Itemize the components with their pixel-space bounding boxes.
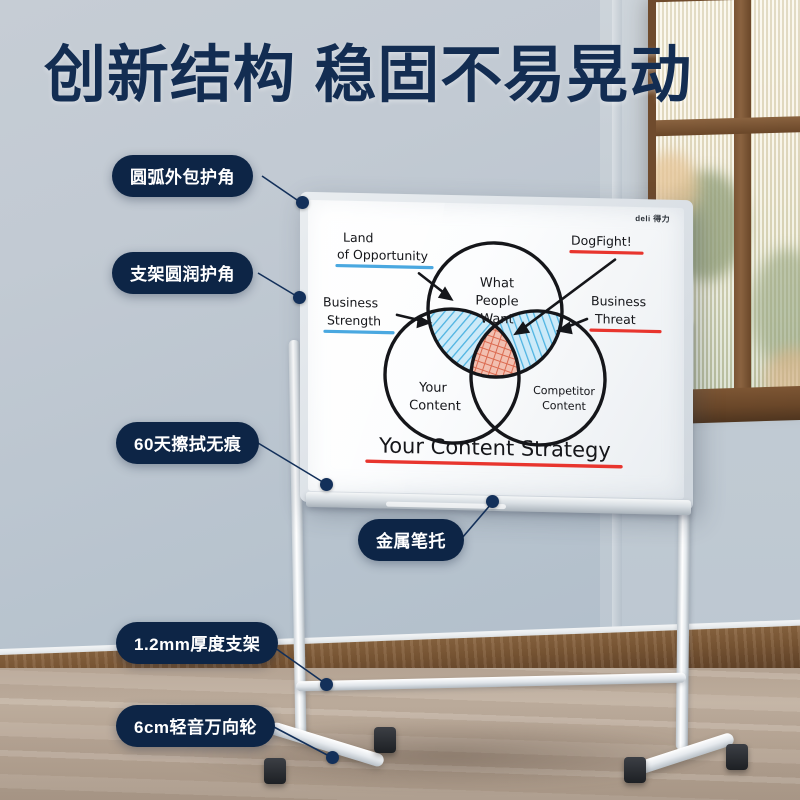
whiteboard-drawing: What People Want Your Content Competitor… [315,201,675,499]
callout-dot-no-stain [320,478,333,491]
annotation-dogfight: DogFight! [571,233,632,249]
callout-frame-gauge[interactable]: 1.2mm厚度支架 [116,622,278,664]
product-marketing-scene: 创新结构 稳固不易晃动 deli 得力 [0,0,800,800]
annotation-business-strength-2: Strength [327,312,381,328]
venn-label-what-people-want-3: Want [480,312,513,328]
drawing-title: Your Content Strategy [378,433,611,462]
whiteboard-product: deli 得力 [0,0,800,800]
venn-label-what-people-want-1: What [480,276,514,292]
annotation-underline-red-1 [571,252,642,254]
callout-stand-guard[interactable]: 支架圆润护角 [112,252,253,294]
callout-silent-caster[interactable]: 6cm轻音万向轮 [116,705,275,747]
callout-dot-frame-gauge [320,678,333,691]
caster-wheel [374,727,396,753]
callout-dot-pen-tray [486,495,499,508]
annotation-underline-blue-1 [337,266,432,268]
annotation-business-threat-2: Threat [594,311,636,327]
callout-corner-guard[interactable]: 圆弧外包护角 [112,155,253,197]
annotation-land-of-opportunity-2: of Opportunity [337,247,429,264]
caster-wheel [624,757,646,783]
callout-dot-silent-caster [326,751,339,764]
callout-no-stain[interactable]: 60天擦拭无痕 [116,422,259,464]
stand-crossbar [296,673,686,692]
annotation-business-strength-1: Business [323,294,378,310]
venn-label-competitor-content-1: Competitor [533,384,595,398]
callout-dot-corner-guard [296,196,309,209]
venn-label-what-people-want-2: People [475,294,518,310]
drawing-title-underline [367,461,621,467]
venn-label-your-content-2: Content [409,398,461,414]
caster-wheel [726,744,748,770]
annotation-business-threat-1: Business [591,293,646,309]
annotation-underline-red-2 [591,330,660,332]
venn-label-competitor-content-2: Content [542,399,586,413]
callout-pen-tray[interactable]: 金属笔托 [358,519,464,561]
annotation-land-of-opportunity-1: Land [343,230,373,246]
annotation-underline-blue-2 [325,331,393,332]
caster-wheel [264,758,286,784]
venn-diagram-svg: What People Want Your Content Competitor… [315,201,675,499]
venn-label-your-content-1: Your [418,380,447,396]
callout-dot-stand-guard [293,291,306,304]
